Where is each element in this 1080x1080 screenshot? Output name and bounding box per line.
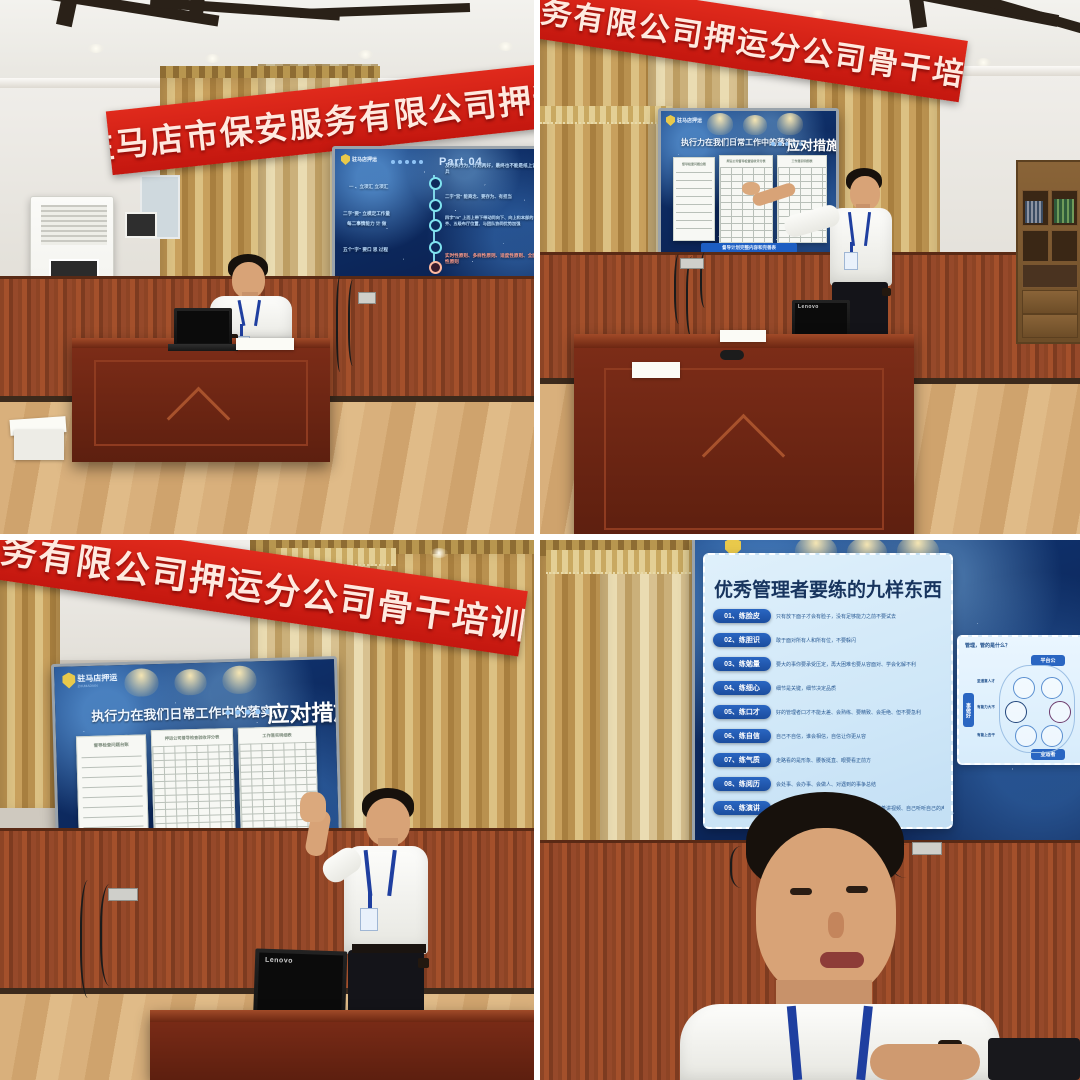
- slide-list-item: 04、练细心 细节是关键，细节决定品质: [713, 681, 947, 695]
- slide-logo-text: 驻马店押运: [77, 672, 117, 684]
- diagram-bubble: [1041, 677, 1063, 699]
- slide-list-item: 07、练气质 走路看的是形象、腰板挺直、眼要看正前方: [713, 753, 947, 767]
- item-description: 好的管理者口才不能太差、会熟练、要精致、会拒绝、但不要急利: [776, 709, 944, 716]
- paper-documents: [632, 362, 680, 378]
- badge: [844, 252, 858, 270]
- presenter-nose: [828, 912, 844, 938]
- slide-list-item: 08、练阅历 会处事、会办事、会做人、对遇到的事争总结: [713, 777, 947, 791]
- timeline-item-label: 一 、立项汇 立项汇: [349, 184, 388, 190]
- presentation-screen: 驻马店 ZHUMADIAN 优秀管理者要练的九样东西 01、练脸皮 只有放下面子…: [692, 540, 1080, 854]
- slide-lamp-graphic: [707, 113, 733, 135]
- slide-lamp-graphic: [124, 668, 159, 697]
- diagram-left-label: 至道意人才: [977, 679, 995, 684]
- item-number-badge: 06、练自信: [713, 729, 771, 743]
- shield-icon: [62, 672, 75, 688]
- item-description: 要大的事你要承受压定，再大困难也要从容面对、学会化解不利: [776, 661, 944, 668]
- podium-desk: [72, 338, 330, 462]
- shelf-compartment: [1022, 230, 1049, 262]
- presenter-hands: [870, 1044, 980, 1080]
- slide-logo: 驻马店押运 ZHUMADIAN: [62, 671, 117, 689]
- cable: [80, 880, 100, 998]
- wall-socket[interactable]: [912, 842, 942, 855]
- presenter-mouth: [820, 952, 864, 968]
- curtain-valance: [540, 106, 672, 124]
- wall-socket[interactable]: [680, 258, 704, 269]
- slide-document-caption: 工作落实明细表: [262, 732, 291, 739]
- cable: [336, 276, 346, 372]
- item-description: 会处事、会办事、会做人、对遇到的事争总结: [776, 781, 944, 788]
- shelf-compartment: [1022, 264, 1078, 288]
- diagram-bubble: [1015, 725, 1037, 747]
- photo-bottom-right: 驻马店 ZHUMADIAN 优秀管理者要练的九样东西 01、练脸皮 只有放下面子…: [540, 540, 1080, 1080]
- diagram-left-label: 有能力大不: [977, 705, 995, 710]
- shelf-compartment: [1022, 190, 1049, 226]
- slide-list-item: 02、练胆识 敢于面对所有人和所有位，不要躲闪: [713, 633, 947, 647]
- item-number-badge: 02、练胆识: [713, 633, 771, 647]
- downlight: [430, 548, 448, 558]
- downlight: [358, 50, 373, 59]
- wristwatch: [882, 288, 891, 296]
- presenter-head: [756, 828, 896, 998]
- podium-desk: [150, 1010, 534, 1080]
- ac-vent: [41, 205, 107, 245]
- belt: [352, 944, 426, 953]
- diagram-bubble: [1013, 677, 1035, 699]
- diagram-bubble: [1049, 701, 1071, 723]
- item-number-badge: 04、练细心: [713, 681, 771, 695]
- wristwatch: [418, 958, 429, 968]
- presenter-raised-hand: [300, 792, 326, 822]
- slide-document-caption: 押运公司督导检查验收评分表: [726, 159, 765, 163]
- timeline-item-label: 每二事情能力 计 做: [347, 221, 386, 227]
- item-description: 走路看的是形象、腰板挺直、眼要看正前方: [776, 757, 944, 764]
- item-number-badge: 05、练口才: [713, 705, 771, 719]
- wall-socket[interactable]: [358, 292, 376, 304]
- photo-top-right: 保安服务有限公司押运分公司骨干培训 驻马店押运 执行力在我们日常工作中的落实 应…: [540, 0, 1080, 534]
- slide-logo-text: 驻马店押运: [352, 156, 377, 163]
- slide-lamp-graphic: [222, 665, 257, 694]
- shield-icon: [666, 115, 675, 126]
- item-description: 细节是关键，细节决定品质: [776, 685, 944, 692]
- downlight: [205, 54, 220, 63]
- item-number-badge: 08、练阅历: [713, 777, 771, 791]
- shelf-compartment: [1051, 230, 1078, 262]
- books: [1054, 199, 1074, 223]
- slide-dots: [391, 160, 423, 164]
- slide-logo: 驻马店押运: [341, 154, 377, 165]
- presenter-eye: [846, 886, 868, 893]
- diagram-bubble: [1005, 701, 1027, 723]
- paper-documents: [720, 330, 766, 342]
- presenter-pointing-hand: [742, 182, 760, 195]
- presentation-screen: 驻马店押运 Part 04 一 、立项汇 立项汇 二字"要" 立模定工作量 每二…: [332, 146, 534, 280]
- slide-diagram-card: 管理，管的是什么？ 平台公 事做好 业适者 至道意人才 有能力大不 有能上去干: [957, 635, 1080, 765]
- slide-logo-subtext: ZHUMADIAN: [77, 683, 117, 688]
- timeline-item-label: 五个"字" 要口 思 过程: [343, 247, 388, 253]
- slide-logo: 驻马店押运: [666, 115, 702, 126]
- timeline-node: [429, 241, 442, 254]
- laptop[interactable]: [988, 1038, 1080, 1080]
- timeline-node: [429, 261, 442, 274]
- slide-title: 优秀管理者要练的九样东西: [714, 575, 942, 602]
- wall-sign: [125, 212, 157, 238]
- curtain-valance: [546, 550, 698, 574]
- presenter-eye: [790, 888, 812, 895]
- timeline-node: [429, 177, 442, 190]
- slide-right-item: 二字"宫" 能商念、要存为、有担当: [445, 194, 512, 200]
- timeline-node: [429, 219, 442, 232]
- timeline-node: [429, 199, 442, 212]
- podium-desk: [574, 334, 914, 534]
- desk-top: [150, 1010, 534, 1022]
- laptop-base[interactable]: [168, 344, 238, 351]
- slide-list-item: 05、练口才 好的管理者口才不能太差、会熟练、要精致、会拒绝、但不要急利: [713, 705, 947, 719]
- downlight: [498, 42, 513, 51]
- item-number-badge: 01、练脸皮: [713, 609, 771, 623]
- diagram-bubble: [1041, 725, 1063, 747]
- shelf-drawer[interactable]: [1022, 290, 1078, 314]
- slide-list-item: 01、练脸皮 只有放下面子才会有脸子，没有足够能力之前不要试去: [713, 609, 947, 623]
- wall-socket[interactable]: [108, 888, 138, 901]
- curtain-rod: [160, 66, 380, 78]
- books: [1025, 201, 1043, 223]
- shield-icon: [341, 154, 350, 165]
- slide-document-caption: 工作落实明细表: [791, 159, 812, 163]
- slide-lamp-graphic: [174, 669, 207, 696]
- laptop-screen: [177, 311, 229, 343]
- slide-section-heading: 应对措施: [787, 135, 839, 154]
- chair-back: [14, 430, 64, 460]
- photo-top-left: 驻马店市保安服务有限公司押运 驻马店押运 Part 04 一 、立项汇 立项汇: [0, 0, 534, 534]
- diagram-title: 管理，管的是什么？: [965, 642, 1010, 649]
- item-description: 只有放下面子才会有脸子，没有足够能力之前不要试去: [776, 613, 944, 620]
- paper-documents: [236, 338, 294, 350]
- slide-document-caption: 督导检查问题台账: [682, 162, 706, 166]
- item-number-badge: 07、练气质: [713, 753, 771, 767]
- slide-main-card: 优秀管理者要练的九样东西 01、练脸皮 只有放下面子才会有脸子，没有足够能力之前…: [703, 553, 953, 829]
- slide-document-caption: 督导检查问题台账: [94, 742, 129, 749]
- badge: [360, 908, 378, 931]
- bookshelf: [1016, 160, 1080, 344]
- slide-principles: 实时性原则、多样性原则、适度性原则、全面性原则: [445, 253, 534, 265]
- diagram-left-label: 有能上去干: [977, 733, 995, 738]
- diagram-chip-left: 事做好: [963, 693, 974, 727]
- mouse[interactable]: [720, 350, 744, 360]
- shelf-compartment: [1051, 190, 1078, 226]
- slide-list-item: 06、练自信 自己不自信，谁会相信，自信让你更从容: [713, 729, 947, 743]
- item-description: 敢于面对所有人和所有位，不要躲闪: [776, 637, 944, 644]
- photo-bottom-left: 服务有限公司押运分公司骨干培训 驻马店押运 ZHUMADIAN 执行力在我们日常…: [0, 540, 534, 1080]
- slide-lamp-graphic: [743, 115, 767, 135]
- item-description: 自己不自信，谁会相信，自信让你更从容: [776, 733, 944, 740]
- laptop[interactable]: [174, 308, 232, 346]
- slide-list-item: 03、练勉量 要大的事你要承受压定，再大困难也要从容面对、学会化解不利: [713, 657, 947, 671]
- slide-right-item: 四字"m" 上而上带下带动同向下、向上和本部的齐、五级布厅位置、与团队协同优势加…: [445, 215, 534, 227]
- laptop-brand-label: Lenovo: [265, 957, 293, 965]
- slide-document: 督导检查问题台账: [673, 157, 715, 241]
- slide-lamp-graphic: [777, 113, 803, 135]
- downlight: [88, 44, 104, 53]
- timeline-item-label: 二字"要" 立模定工作量: [343, 211, 390, 217]
- slide-logo-text: 驻马店押运: [677, 117, 702, 124]
- photo-collage: 驻马店市保安服务有限公司押运 驻马店押运 Part 04 一 、立项汇 立项汇: [0, 0, 1080, 1080]
- slide-section-heading: 应对措施: [267, 695, 343, 729]
- shelf-drawer[interactable]: [1022, 314, 1078, 338]
- slide-right-header: 及时执行为，计划两好，最终也不能是纸上谈兵: [445, 163, 534, 175]
- slide-document-caption: 押运公司督导检查验收评分表: [165, 734, 220, 742]
- item-number-badge: 03、练勉量: [713, 657, 771, 671]
- laptop-brand-label: Lenovo: [798, 304, 819, 310]
